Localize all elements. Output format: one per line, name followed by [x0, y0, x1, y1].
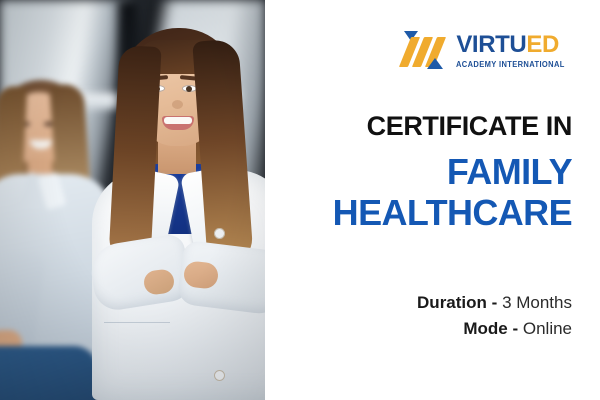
detail-dash: -: [492, 293, 498, 312]
content-panel: VIRTUED ACADEMY INTERNATIONAL CERTIFICAT…: [265, 0, 600, 400]
brand-logo-text: VIRTUED ACADEMY INTERNATIONAL: [456, 33, 572, 69]
brand-word-ed: ED: [526, 31, 559, 58]
brand-tagline: ACADEMY INTERNATIONAL: [456, 60, 565, 69]
detail-value: 3 Months: [502, 293, 572, 312]
title-line-1: FAMILY: [447, 151, 572, 192]
heading-group: CERTIFICATE IN FAMILY HEALTHCARE: [152, 112, 572, 233]
title-line-2: HEALTHCARE: [152, 193, 572, 233]
brand-logo: VIRTUED ACADEMY INTERNATIONAL: [401, 30, 572, 72]
detail-label: Duration: [417, 293, 487, 312]
detail-label: Mode: [463, 319, 507, 338]
brand-word-virtu: VIRTU: [456, 31, 526, 58]
course-details: Duration - 3 Months Mode - Online: [242, 290, 572, 343]
detail-row-mode: Mode - Online: [242, 316, 572, 342]
brand-wordmark: VIRTUED: [456, 33, 572, 57]
detail-dash: -: [512, 319, 518, 338]
triangle-up-icon: [427, 58, 443, 69]
page-title: FAMILY HEALTHCARE: [152, 152, 572, 233]
detail-value: Online: [523, 319, 572, 338]
kicker-text: CERTIFICATE IN: [152, 112, 572, 140]
virtued-logo-icon: [401, 30, 447, 72]
course-promo-banner: VIRTUED ACADEMY INTERNATIONAL CERTIFICAT…: [0, 0, 600, 400]
detail-row-duration: Duration - 3 Months: [242, 290, 572, 316]
